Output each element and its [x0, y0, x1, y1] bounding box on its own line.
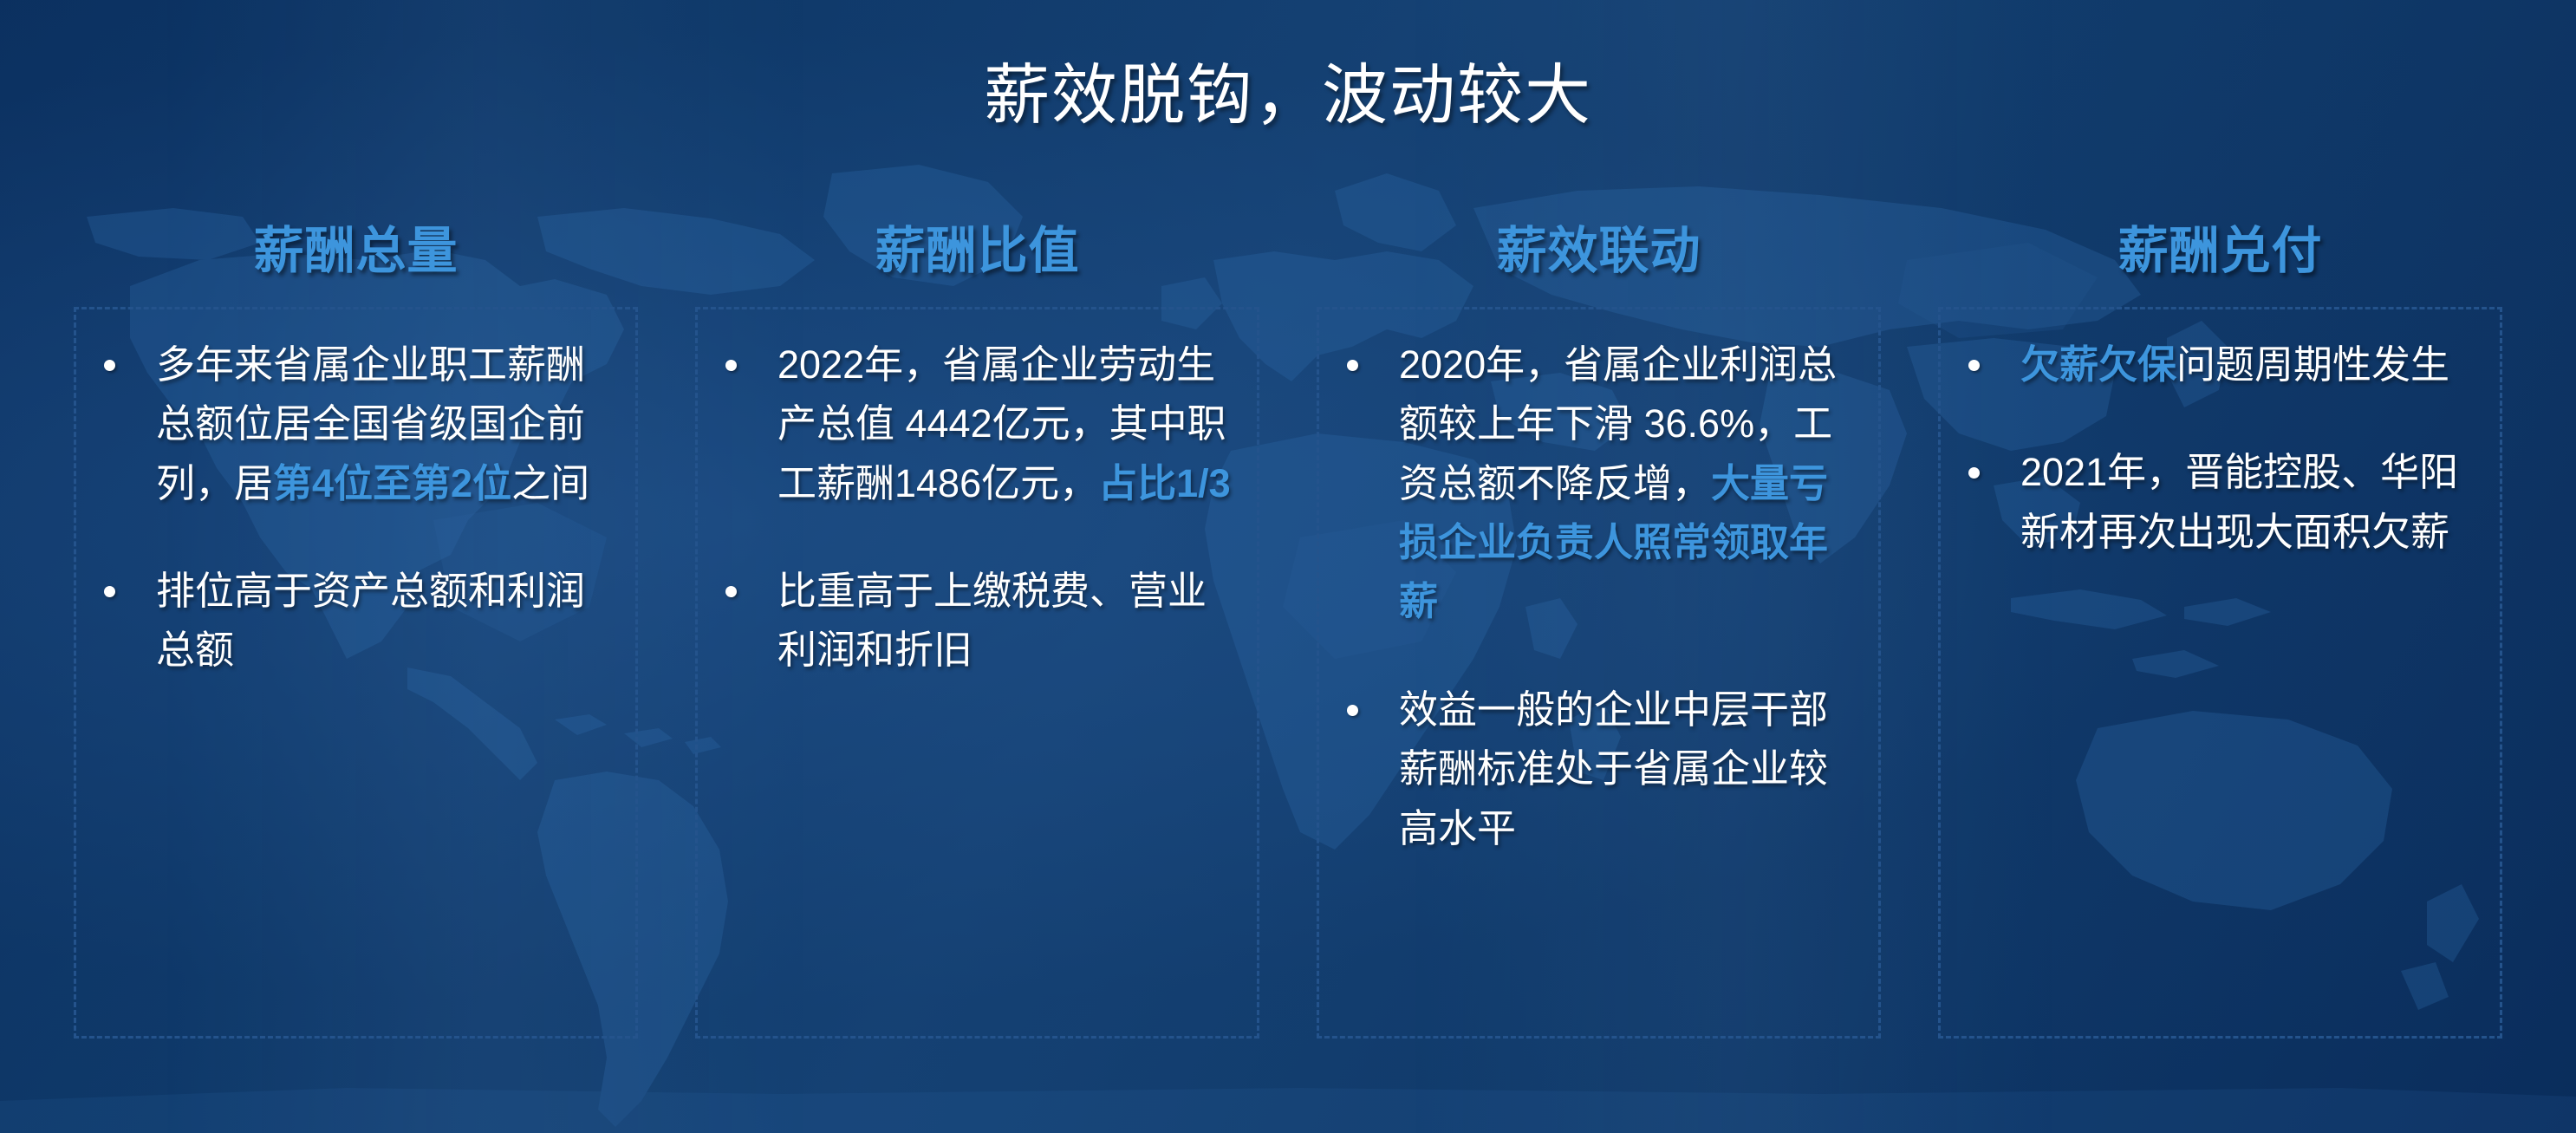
bullet-text: 效益一般的企业中层干部薪酬标准处于省属企业较高水平: [1399, 687, 1828, 850]
list-item: 2022年，省属企业劳动生产总值 4442亿元，其中职工薪酬1486亿元，占比1…: [715, 335, 1234, 513]
column-content-box: 2020年，省属企业利润总额较上年下滑 36.6%，工资总额不降反增，大量亏损企…: [1317, 307, 1881, 1039]
column-header: 薪酬兑付: [1938, 224, 2502, 288]
column-salary-payment: 薪酬兑付 欠薪欠保问题周期性发生 2021年，晋能控股、华阳新材再次出现大面积欠…: [1938, 224, 2502, 1039]
bullet-highlight: 第4位至第2位: [273, 461, 511, 505]
column-header: 薪酬总量: [74, 224, 638, 288]
column-salary-ratio: 薪酬比值 2022年，省属企业劳动生产总值 4442亿元，其中职工薪酬1486亿…: [695, 224, 1259, 1039]
column-header: 薪酬比值: [695, 224, 1259, 288]
slide-title: 薪效脱钩，波动较大: [0, 42, 2576, 137]
columns-container: 薪酬总量 多年来省属企业职工薪酬总额位居全国省级国企前列，居第4位至第2位之间 …: [74, 224, 2502, 1039]
bullet-text-tail: 之间: [511, 461, 589, 505]
bullet-dot-icon: [104, 586, 115, 597]
list-item: 比重高于上缴税费、营业利润和折旧: [715, 562, 1234, 680]
bullet-dot-icon: [1968, 360, 1980, 371]
bullet-text: 问题周期性发生: [2176, 342, 2449, 387]
column-content-box: 2022年，省属企业劳动生产总值 4442亿元，其中职工薪酬1486亿元，占比1…: [695, 307, 1259, 1039]
bullet-list: 欠薪欠保问题周期性发生 2021年，晋能控股、华阳新材再次出现大面积欠薪: [1958, 335, 2477, 562]
bullet-highlight: 欠薪欠保: [2020, 342, 2176, 387]
column-header: 薪效联动: [1317, 224, 1881, 288]
column-content-box: 多年来省属企业职工薪酬总额位居全国省级国企前列，居第4位至第2位之间 排位高于资…: [74, 307, 638, 1039]
list-item: 排位高于资产总额和利润总额: [94, 562, 613, 680]
bullet-dot-icon: [1347, 360, 1358, 371]
bullet-text: 比重高于上缴税费、营业利润和折旧: [777, 569, 1207, 672]
bullet-text: 2021年，晋能控股、华阳新材再次出现大面积欠薪: [2020, 450, 2458, 553]
bullet-text: 排位高于资产总额和利润总额: [156, 569, 585, 672]
bullet-dot-icon: [1347, 705, 1358, 716]
list-item: 2020年，省属企业利润总额较上年下滑 36.6%，工资总额不降反增，大量亏损企…: [1337, 335, 1856, 632]
list-item: 多年来省属企业职工薪酬总额位居全国省级国企前列，居第4位至第2位之间: [94, 335, 613, 513]
list-item: 欠薪欠保问题周期性发生: [1958, 335, 2477, 394]
bullet-list: 多年来省属企业职工薪酬总额位居全国省级国企前列，居第4位至第2位之间 排位高于资…: [94, 335, 613, 680]
slide-root: 薪效脱钩，波动较大 薪酬总量 多年来省属企业职工薪酬总额位居全国省级国企前列，居…: [0, 0, 2576, 1133]
bullet-dot-icon: [1968, 467, 1980, 479]
list-item: 2021年，晋能控股、华阳新材再次出现大面积欠薪: [1958, 443, 2477, 562]
bullet-highlight: 占比1/3: [1098, 461, 1231, 505]
bullet-dot-icon: [725, 360, 737, 371]
column-pay-performance-link: 薪效联动 2020年，省属企业利润总额较上年下滑 36.6%，工资总额不降反增，…: [1317, 224, 1881, 1039]
list-item: 效益一般的企业中层干部薪酬标准处于省属企业较高水平: [1337, 680, 1856, 858]
bullet-dot-icon: [725, 586, 737, 597]
bullet-dot-icon: [104, 360, 115, 371]
bullet-list: 2020年，省属企业利润总额较上年下滑 36.6%，工资总额不降反增，大量亏损企…: [1337, 335, 1856, 858]
bullet-list: 2022年，省属企业劳动生产总值 4442亿元，其中职工薪酬1486亿元，占比1…: [715, 335, 1234, 680]
column-salary-total: 薪酬总量 多年来省属企业职工薪酬总额位居全国省级国企前列，居第4位至第2位之间 …: [74, 224, 638, 1039]
column-content-box: 欠薪欠保问题周期性发生 2021年，晋能控股、华阳新材再次出现大面积欠薪: [1938, 307, 2502, 1039]
